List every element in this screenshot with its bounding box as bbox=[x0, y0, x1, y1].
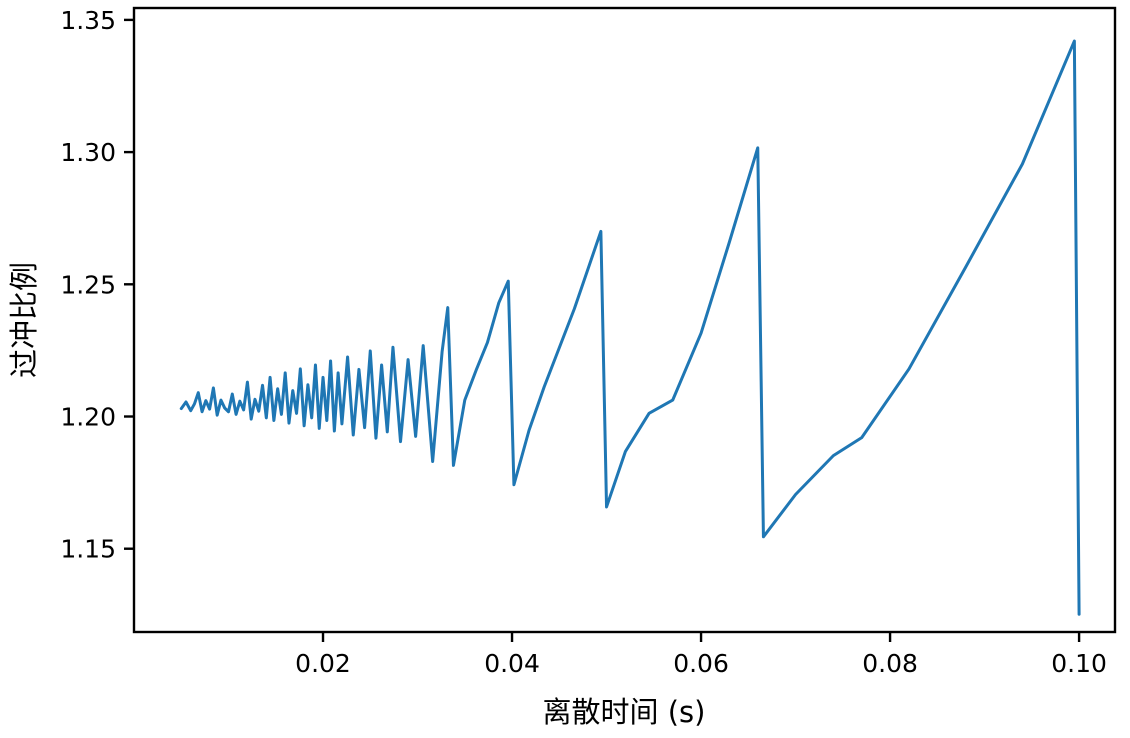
y-axis-tick-labels: 1.151.201.251.301.35 bbox=[60, 6, 116, 564]
y-axis-title: 过冲比例 bbox=[7, 262, 41, 378]
x-tick-label: 0.02 bbox=[295, 649, 351, 678]
y-tick-label: 1.15 bbox=[60, 535, 116, 564]
x-tick-label: 0.08 bbox=[862, 649, 918, 678]
x-axis-title: 离散时间 (s) bbox=[543, 695, 706, 729]
y-tick-label: 1.20 bbox=[60, 403, 116, 432]
chart-figure: 0.020.040.060.080.10 1.151.201.251.301.3… bbox=[0, 0, 1130, 738]
x-axis-ticks bbox=[323, 632, 1079, 642]
y-tick-label: 1.25 bbox=[60, 270, 116, 299]
y-tick-label: 1.30 bbox=[60, 138, 116, 167]
y-tick-label: 1.35 bbox=[60, 6, 116, 35]
plot-background bbox=[134, 8, 1115, 632]
x-tick-label: 0.04 bbox=[484, 649, 540, 678]
y-axis-ticks bbox=[124, 20, 134, 549]
plot-canvas: 0.020.040.060.080.10 1.151.201.251.301.3… bbox=[0, 0, 1130, 738]
x-tick-label: 0.10 bbox=[1051, 649, 1107, 678]
x-tick-label: 0.06 bbox=[673, 649, 729, 678]
x-axis-tick-labels: 0.020.040.060.080.10 bbox=[295, 649, 1107, 678]
